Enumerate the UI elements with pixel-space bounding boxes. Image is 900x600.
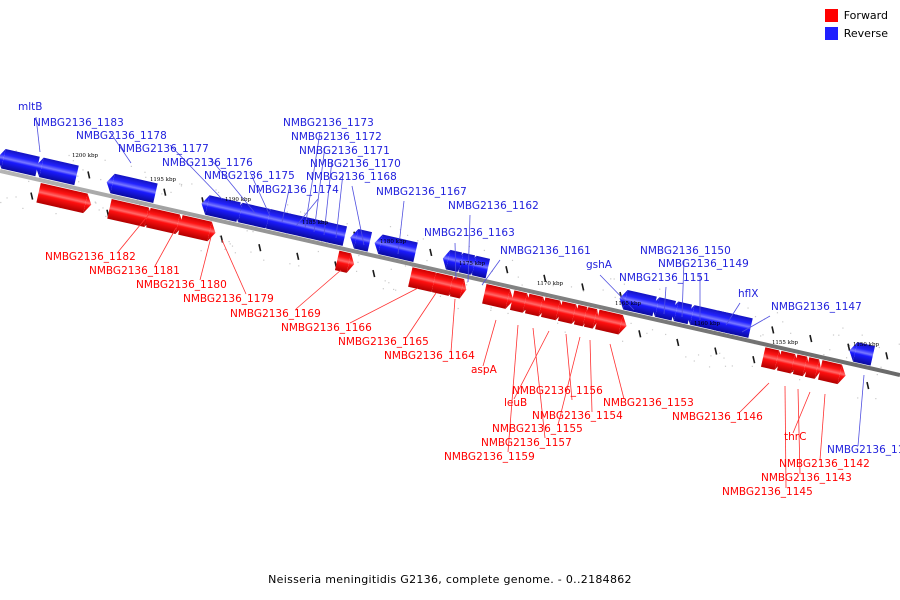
sequence-speckle-dot (603, 289, 604, 290)
sequence-speckle-dot (491, 307, 492, 308)
sequence-speckle-dot (78, 181, 79, 182)
sequence-speckle-dot (289, 263, 290, 264)
sequence-speckle-dot (842, 327, 843, 328)
sequence-speckle-dot (170, 192, 171, 193)
sequence-speckle-dot (229, 241, 230, 242)
sequence-speckle-dot (218, 192, 219, 193)
gene-label[interactable]: NMBG2136_1141 (827, 444, 900, 456)
sequence-speckle-dot (215, 189, 216, 190)
gene-label[interactable]: aspA (471, 364, 498, 376)
sequence-speckle-dot (224, 249, 225, 250)
sequence-speckle-dot (755, 316, 756, 317)
gene-label[interactable]: NMBG2136_1150 (640, 245, 731, 257)
sequence-speckle-dot (298, 265, 299, 266)
sequence-speckle-dot (102, 207, 103, 208)
sequence-tick-mark (430, 249, 432, 256)
gene-label[interactable]: NMBG2136_1177 (118, 143, 209, 155)
gene-label-leader (858, 375, 864, 446)
sequence-tick-mark (506, 266, 508, 273)
gene-label[interactable]: thrC (784, 431, 806, 443)
gene-label-leader (155, 228, 176, 266)
genome-map-stage: mltBNMBG2136_1183NMBG2136_1182NMBG2136_1… (0, 0, 900, 600)
gene-label-leader (590, 340, 592, 412)
sequence-speckle-dot (232, 246, 233, 247)
legend-swatch-forward (825, 9, 838, 22)
scale-tick-label: 1180 kbp (380, 239, 407, 245)
sequence-speckle-dot (710, 355, 711, 356)
sequence-speckle-dot (99, 209, 100, 210)
scale-tick-label: 1175 kbp (459, 261, 486, 267)
gene-label[interactable]: NMBG2136_1143 (761, 472, 852, 484)
gene-label[interactable]: NMBG2136_1149 (658, 258, 749, 270)
sequence-tick-mark (677, 339, 679, 346)
sequence-speckle-dot (252, 231, 253, 232)
sequence-speckle-dot (131, 166, 132, 167)
sequence-speckle-dot (55, 213, 56, 214)
gene-label-layer[interactable]: mltBNMBG2136_1183NMBG2136_1182NMBG2136_1… (18, 101, 900, 498)
sequence-tick-mark (164, 189, 166, 196)
gene-label-leader (793, 392, 810, 433)
sequence-speckle-dot (181, 185, 182, 186)
sequence-speckle-dot (6, 197, 7, 198)
gene-label[interactable]: NMBG2136_1151 (619, 272, 710, 284)
sequence-speckle-dot (235, 252, 236, 253)
legend-label-reverse: Reverse (844, 27, 888, 40)
sequence-speckle-dot (82, 169, 83, 170)
gene-label-leader (483, 320, 496, 366)
sequence-speckle-dot (77, 176, 78, 177)
sequence-speckle-dot (685, 356, 686, 357)
sequence-speckle-dot (571, 286, 572, 287)
sequence-speckle-dot (557, 323, 558, 324)
gene-label[interactable]: NMBG2136_1168 (306, 171, 397, 183)
sequence-speckle-dot (732, 365, 733, 366)
gene-label-leader (740, 383, 769, 412)
sequence-speckle-dot (833, 334, 834, 335)
gene-label-leader (610, 344, 624, 399)
sequence-speckle-dot (458, 308, 459, 309)
sequence-speckle-dot (823, 354, 824, 355)
sequence-speckle-dot (287, 204, 288, 205)
gene-label-leader (200, 237, 211, 280)
sequence-speckle-dot (652, 329, 653, 330)
sequence-speckle-dot (105, 160, 106, 161)
gene-label[interactable]: NMBG2136_1164 (384, 350, 475, 362)
sequence-speckle-dot (417, 240, 418, 241)
sequence-speckle-dot (760, 335, 761, 336)
sequence-speckle-dot (507, 313, 508, 314)
sequence-speckle-dot (95, 202, 96, 203)
sequence-tick-mark (772, 326, 774, 333)
gene-label[interactable]: NMBG2136_1181 (89, 265, 180, 277)
sequence-speckle-dot (304, 213, 305, 214)
gene-label[interactable]: NMBG2136_1153 (603, 397, 694, 409)
gene-label[interactable]: leuB (504, 397, 527, 409)
sequence-speckle-dot (358, 255, 359, 256)
sequence-speckle-dot (659, 289, 660, 290)
genome-map-svg[interactable]: mltBNMBG2136_1183NMBG2136_1182NMBG2136_1… (0, 0, 900, 600)
scale-tick-label: 1195 kbp (150, 177, 177, 183)
sequence-tick-mark (259, 244, 261, 251)
sequence-speckle-dot (782, 321, 783, 322)
gene-label[interactable]: NMBG2136_1179 (183, 293, 274, 305)
sequence-speckle-dot (565, 332, 566, 333)
sequence-speckle-dot (725, 366, 726, 367)
gene-label[interactable]: gshA (586, 259, 613, 271)
gene-label[interactable]: NMBG2136_1145 (722, 486, 813, 498)
sequence-speckle-dot (829, 349, 830, 350)
sequence-speckle-dot (247, 230, 248, 231)
sequence-speckle-dot (490, 310, 491, 311)
gene-label[interactable]: NMBG2136_1176 (162, 157, 253, 169)
gene-body[interactable] (408, 267, 436, 292)
sequence-speckle-dot (179, 183, 180, 184)
sequence-speckle-dot (73, 160, 74, 161)
sequence-speckle-dot (752, 366, 753, 367)
scale-label-layer: 1200 kbp1195 kbp1190 kbp1185 kbp1180 kbp… (72, 153, 880, 348)
gene-label[interactable]: NMBG2136_1171 (299, 145, 390, 157)
sequence-speckle-dot (144, 172, 145, 173)
sequence-speckle-dot (583, 291, 584, 292)
sequence-speckle-dot (0, 202, 1, 203)
gene-label[interactable]: NMBG2136_1166 (281, 322, 372, 334)
gene-label[interactable]: NMBG2136_1174 (248, 184, 339, 196)
sequence-speckle-dot (181, 184, 182, 185)
sequence-speckle-dot (723, 357, 724, 358)
gene-body[interactable] (595, 310, 623, 335)
sequence-speckle-dot (405, 265, 406, 266)
sequence-speckle-dot (610, 278, 611, 279)
sequence-speckle-dot (694, 360, 695, 361)
sequence-speckle-dot (69, 155, 70, 156)
label-leader-layer (36, 117, 864, 488)
sequence-speckle-dot (357, 262, 358, 263)
scale-tick-label: 1165 kbp (615, 301, 642, 307)
sequence-speckle-dot (790, 333, 791, 334)
sequence-speckle-dot (161, 193, 162, 194)
legend-item-forward[interactable]: Forward (825, 8, 888, 22)
gene-label[interactable]: NMBG2136_1156 (512, 385, 603, 397)
sequence-speckle-dot (862, 335, 863, 336)
sequence-speckle-dot (145, 177, 146, 178)
scale-tick-label: 1150 kbp (853, 342, 880, 348)
gene-label[interactable]: mltB (18, 101, 42, 113)
legend-swatch-reverse (825, 27, 838, 40)
gene-label[interactable]: NMBG2136_1146 (672, 411, 763, 423)
sequence-speckle-dot (191, 183, 192, 184)
sequence-tick-mark (31, 193, 33, 200)
gene-label[interactable]: hflX (738, 288, 758, 300)
sequence-speckle-dot (391, 269, 392, 270)
sequence-speckle-dot (622, 341, 623, 342)
sequence-speckle-dot (383, 288, 384, 289)
sequence-speckle-dot (484, 250, 485, 251)
gene-label[interactable]: NMBG2136_1178 (76, 130, 167, 142)
scale-tick-label: 1190 kbp (225, 197, 252, 203)
sequence-speckle-dot (230, 243, 231, 244)
sequence-tick-mark (867, 382, 869, 389)
gene-label[interactable]: NMBG2136_1169 (230, 308, 321, 320)
sequence-speckle-dot (880, 367, 881, 368)
sequence-speckle-dot (22, 208, 23, 209)
gene-label[interactable]: NMBG2136_1165 (338, 336, 429, 348)
sequence-speckle-dot (426, 260, 427, 261)
sequence-speckle-dot (857, 397, 858, 398)
sequence-tick-mark (582, 283, 584, 290)
sequence-speckle-dot (390, 226, 391, 227)
sequence-speckle-dot (356, 271, 357, 272)
gene-label[interactable]: NMBG2136_1173 (283, 117, 374, 129)
sequence-tick-mark (639, 330, 641, 337)
gene-label[interactable]: NMBG2136_1163 (424, 227, 515, 239)
sequence-speckle-dot (665, 334, 666, 335)
gene-label[interactable]: NMBG2136_1161 (500, 245, 591, 257)
sequence-speckle-dot (440, 296, 441, 297)
scale-tick-label: 1155 kbp (772, 340, 799, 346)
sequence-speckle-dot (15, 196, 16, 197)
sequence-speckle-dot (614, 278, 615, 279)
gene-label[interactable]: NMBG2136_1157 (481, 437, 572, 449)
sequence-tick-mark (373, 270, 375, 277)
gene-label[interactable]: NMBG2136_1155 (492, 423, 583, 435)
gene-label-leader (451, 299, 455, 352)
sequence-speckle-dot (466, 284, 467, 285)
gene-feature[interactable] (348, 228, 372, 252)
sequence-speckle-dot (799, 379, 800, 380)
gene-label-leader (296, 270, 341, 309)
figure-caption: Neisseria meningitidis G2136, complete g… (0, 573, 900, 586)
sequence-speckle-dot (747, 307, 748, 308)
gene-label[interactable]: NMBG2136_1183 (33, 117, 124, 129)
sequence-speckle-dot (646, 333, 647, 334)
sequence-speckle-dot (385, 280, 386, 281)
legend: Forward Reverse (825, 8, 888, 44)
scale-tick-label: 1200 kbp (72, 153, 99, 159)
sequence-speckle-dot (838, 335, 839, 336)
gene-feature[interactable] (335, 251, 356, 274)
sequence-speckle-dot (250, 251, 251, 252)
sequence-speckle-dot (388, 282, 389, 283)
sequence-speckle-dot (407, 235, 408, 236)
scale-tick-label: 1170 kbp (537, 281, 564, 287)
sequence-speckle-dot (393, 289, 394, 290)
sequence-tick-mark (297, 253, 299, 260)
sequence-tick-mark (886, 352, 888, 359)
gene-label[interactable]: NMBG2136_1167 (376, 186, 467, 198)
sequence-speckle-dot (719, 353, 720, 354)
sequence-speckle-dot (762, 334, 763, 335)
gene-label[interactable]: NMBG2136_1142 (779, 458, 870, 470)
gene-label[interactable]: NMBG2136_1162 (448, 200, 539, 212)
sequence-speckle-dot (709, 366, 710, 367)
sequence-speckle-dot (630, 323, 631, 324)
gene-label[interactable]: NMBG2136_1182 (45, 251, 136, 263)
sequence-tick-mark (810, 335, 812, 342)
sequence-speckle-dot (300, 211, 301, 212)
gene-label[interactable]: NMBG2136_1159 (444, 451, 535, 463)
scale-tick-label: 1160 kbp (694, 321, 721, 327)
sequence-tick-mark (88, 171, 90, 178)
gene-label[interactable]: NMBG2136_1154 (532, 410, 623, 422)
sequence-speckle-dot (846, 357, 847, 358)
gene-label[interactable]: NMBG2136_1180 (136, 279, 227, 291)
legend-item-reverse[interactable]: Reverse (825, 26, 888, 40)
legend-label-forward: Forward (844, 9, 888, 22)
sequence-speckle-dot (615, 297, 616, 298)
sequence-speckle-dot (518, 277, 519, 278)
sequence-speckle-dot (512, 260, 513, 261)
gene-label[interactable]: NMBG2136_1170 (310, 158, 401, 170)
gene-label-leader (406, 293, 436, 338)
gene-body[interactable] (482, 284, 510, 309)
sequence-speckle-dot (877, 374, 878, 375)
sequence-speckle-dot (287, 211, 288, 212)
gene-label[interactable]: NMBG2136_1147 (771, 301, 862, 313)
sequence-speckle-dot (318, 251, 319, 252)
gene-label[interactable]: NMBG2136_1175 (204, 170, 295, 182)
gene-label[interactable]: NMBG2136_1172 (291, 131, 382, 143)
sequence-speckle-dot (522, 284, 523, 285)
scale-tick-label: 1185 kbp (302, 220, 329, 226)
sequence-speckle-dot (263, 260, 264, 261)
sequence-speckle-dot (875, 398, 876, 399)
sequence-speckle-dot (201, 250, 202, 251)
sequence-speckle-dot (347, 223, 348, 224)
gene-label-leader (820, 394, 825, 460)
sequence-tick-mark (715, 348, 717, 355)
sequence-speckle-dot (28, 181, 29, 182)
sequence-speckle-dot (698, 354, 699, 355)
sequence-speckle-dot (395, 290, 396, 291)
sequence-tick-mark (753, 356, 755, 363)
sequence-speckle-dot (100, 179, 101, 180)
sequence-speckle-dot (105, 216, 106, 217)
gene-label-leader (350, 288, 418, 323)
